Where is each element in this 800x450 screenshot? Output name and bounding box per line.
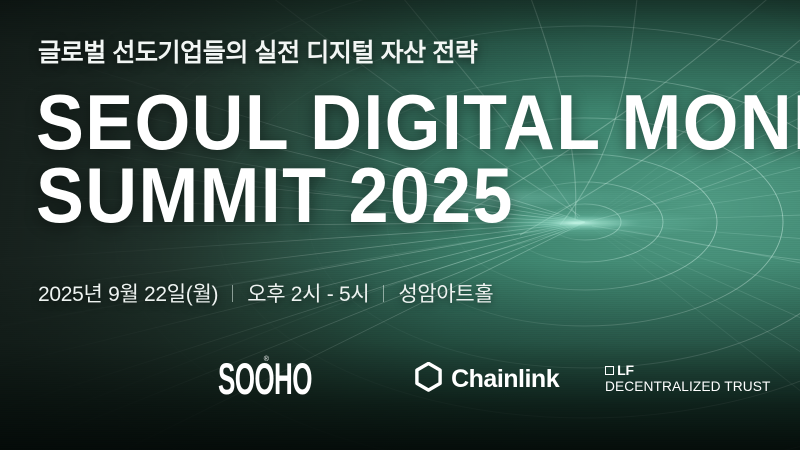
event-title-line-2: SUMMIT 2025 [36, 159, 800, 232]
poster-content: 글로벌 선도기업들의 실전 디지털 자산 전략 SEOUL DIGITAL MO… [0, 0, 800, 450]
event-title: SEOUL DIGITAL MONEY SUMMIT 2025 [36, 86, 800, 231]
lf-wordmark: LF [617, 363, 634, 377]
event-subtitle: 글로벌 선도기업들의 실전 디지털 자산 전략 [38, 33, 478, 69]
event-poster: 글로벌 선도기업들의 실전 디지털 자산 전략 SEOUL DIGITAL MO… [0, 0, 800, 450]
sponsor-logos: SOOHO ® Chainlink LF DECENTRALIZED TRUST [218, 358, 774, 400]
registered-trademark-icon: ® [264, 356, 269, 363]
detail-separator [383, 285, 384, 302]
event-venue: 성암아트홀 [398, 278, 493, 308]
chainlink-wordmark: Chainlink [451, 367, 559, 392]
event-time: 오후 2시 - 5시 [247, 278, 369, 308]
event-date: 2025년 9월 22일(월) [38, 278, 218, 308]
sponsor-logo-chainlink[interactable]: Chainlink [415, 362, 559, 397]
sponsor-logo-lf-decentralized-trust[interactable]: LF DECENTRALIZED TRUST [605, 363, 774, 395]
lf-logo-row: LF [605, 363, 634, 377]
hexagon-icon [415, 362, 442, 397]
sponsor-logo-sooho[interactable]: SOOHO ® [218, 358, 369, 400]
lf-tagline: DECENTRALIZED TRUST [605, 379, 771, 395]
detail-separator [232, 285, 233, 302]
event-details: 2025년 9월 22일(월) 오후 2시 - 5시 성암아트홀 [38, 278, 493, 308]
sooho-wordmark: SOOHO [218, 357, 312, 402]
square-icon [605, 366, 614, 375]
